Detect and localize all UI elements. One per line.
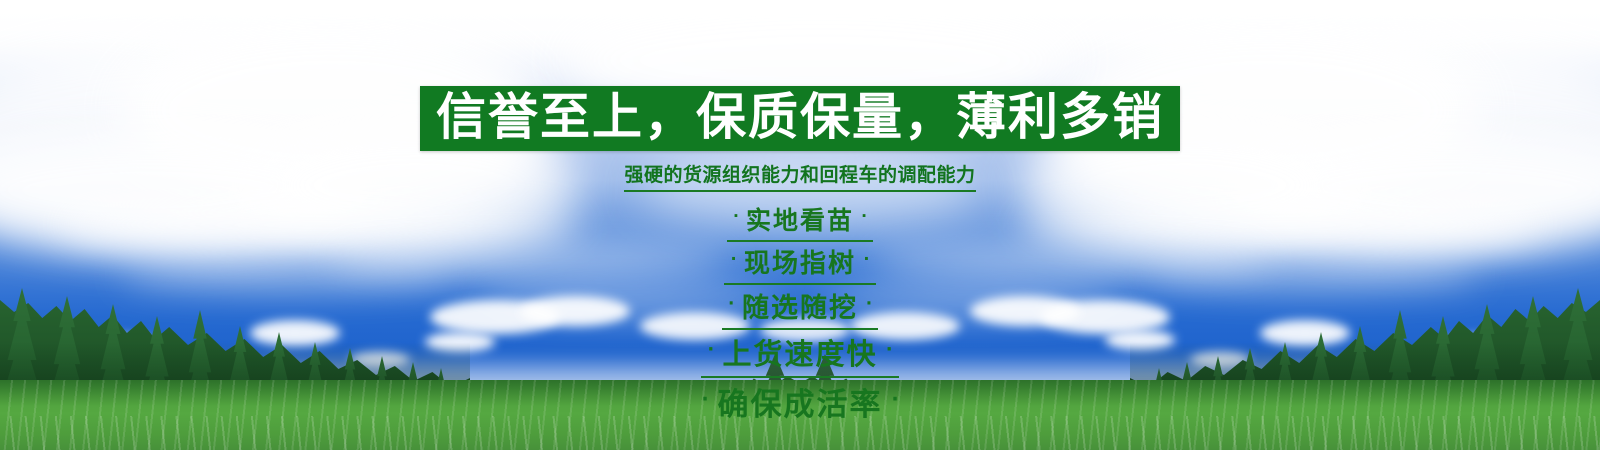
- cloud-puff: [970, 296, 1080, 326]
- cloud-band: [60, 205, 580, 245]
- cloud-band: [1020, 205, 1540, 245]
- cloud-puff: [760, 318, 850, 342]
- crop-field: [0, 380, 1600, 450]
- cloud-band: [120, 262, 450, 288]
- cloud-puff: [520, 296, 630, 326]
- promo-banner: 信誉至上，保质保量，薄利多销 强硬的货源组织能力和回程车的调配能力 · 实地看苗…: [0, 0, 1600, 450]
- cloud-shape: [560, 0, 1080, 120]
- cloud-shape: [640, 150, 980, 230]
- cloud-band: [1150, 262, 1480, 288]
- cloud-puff: [640, 312, 750, 340]
- cloud-puff: [850, 312, 960, 340]
- crop-rows-foreground: [0, 416, 1600, 450]
